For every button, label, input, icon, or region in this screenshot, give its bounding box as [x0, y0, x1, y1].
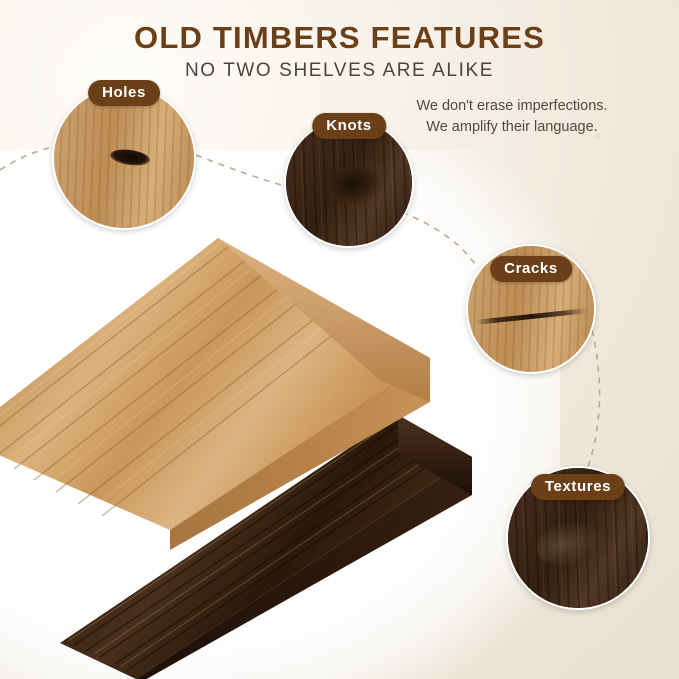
- feature-textures[interactable]: Textures: [506, 466, 650, 610]
- feature-knots[interactable]: Knots: [284, 118, 414, 248]
- tagline-line-1: We don't erase imperfections.: [367, 96, 657, 117]
- feature-holes[interactable]: Holes: [52, 86, 196, 230]
- light-oak-floating-shelf: [0, 230, 460, 550]
- page-subtitle: NO TWO SHELVES ARE ALIKE: [0, 60, 679, 82]
- feature-label-cracks[interactable]: Cracks: [490, 256, 572, 282]
- feature-cracks[interactable]: Cracks: [466, 244, 596, 374]
- feature-label-holes[interactable]: Holes: [88, 80, 160, 106]
- page-title: OLD TIMBERS FEATURES: [0, 20, 679, 56]
- product-infographic: OLD TIMBERS FEATURES NO TWO SHELVES ARE …: [0, 0, 679, 679]
- feature-label-knots[interactable]: Knots: [312, 113, 386, 139]
- wood-hole-closeup-icon: [52, 86, 196, 230]
- feature-label-textures[interactable]: Textures: [531, 474, 625, 500]
